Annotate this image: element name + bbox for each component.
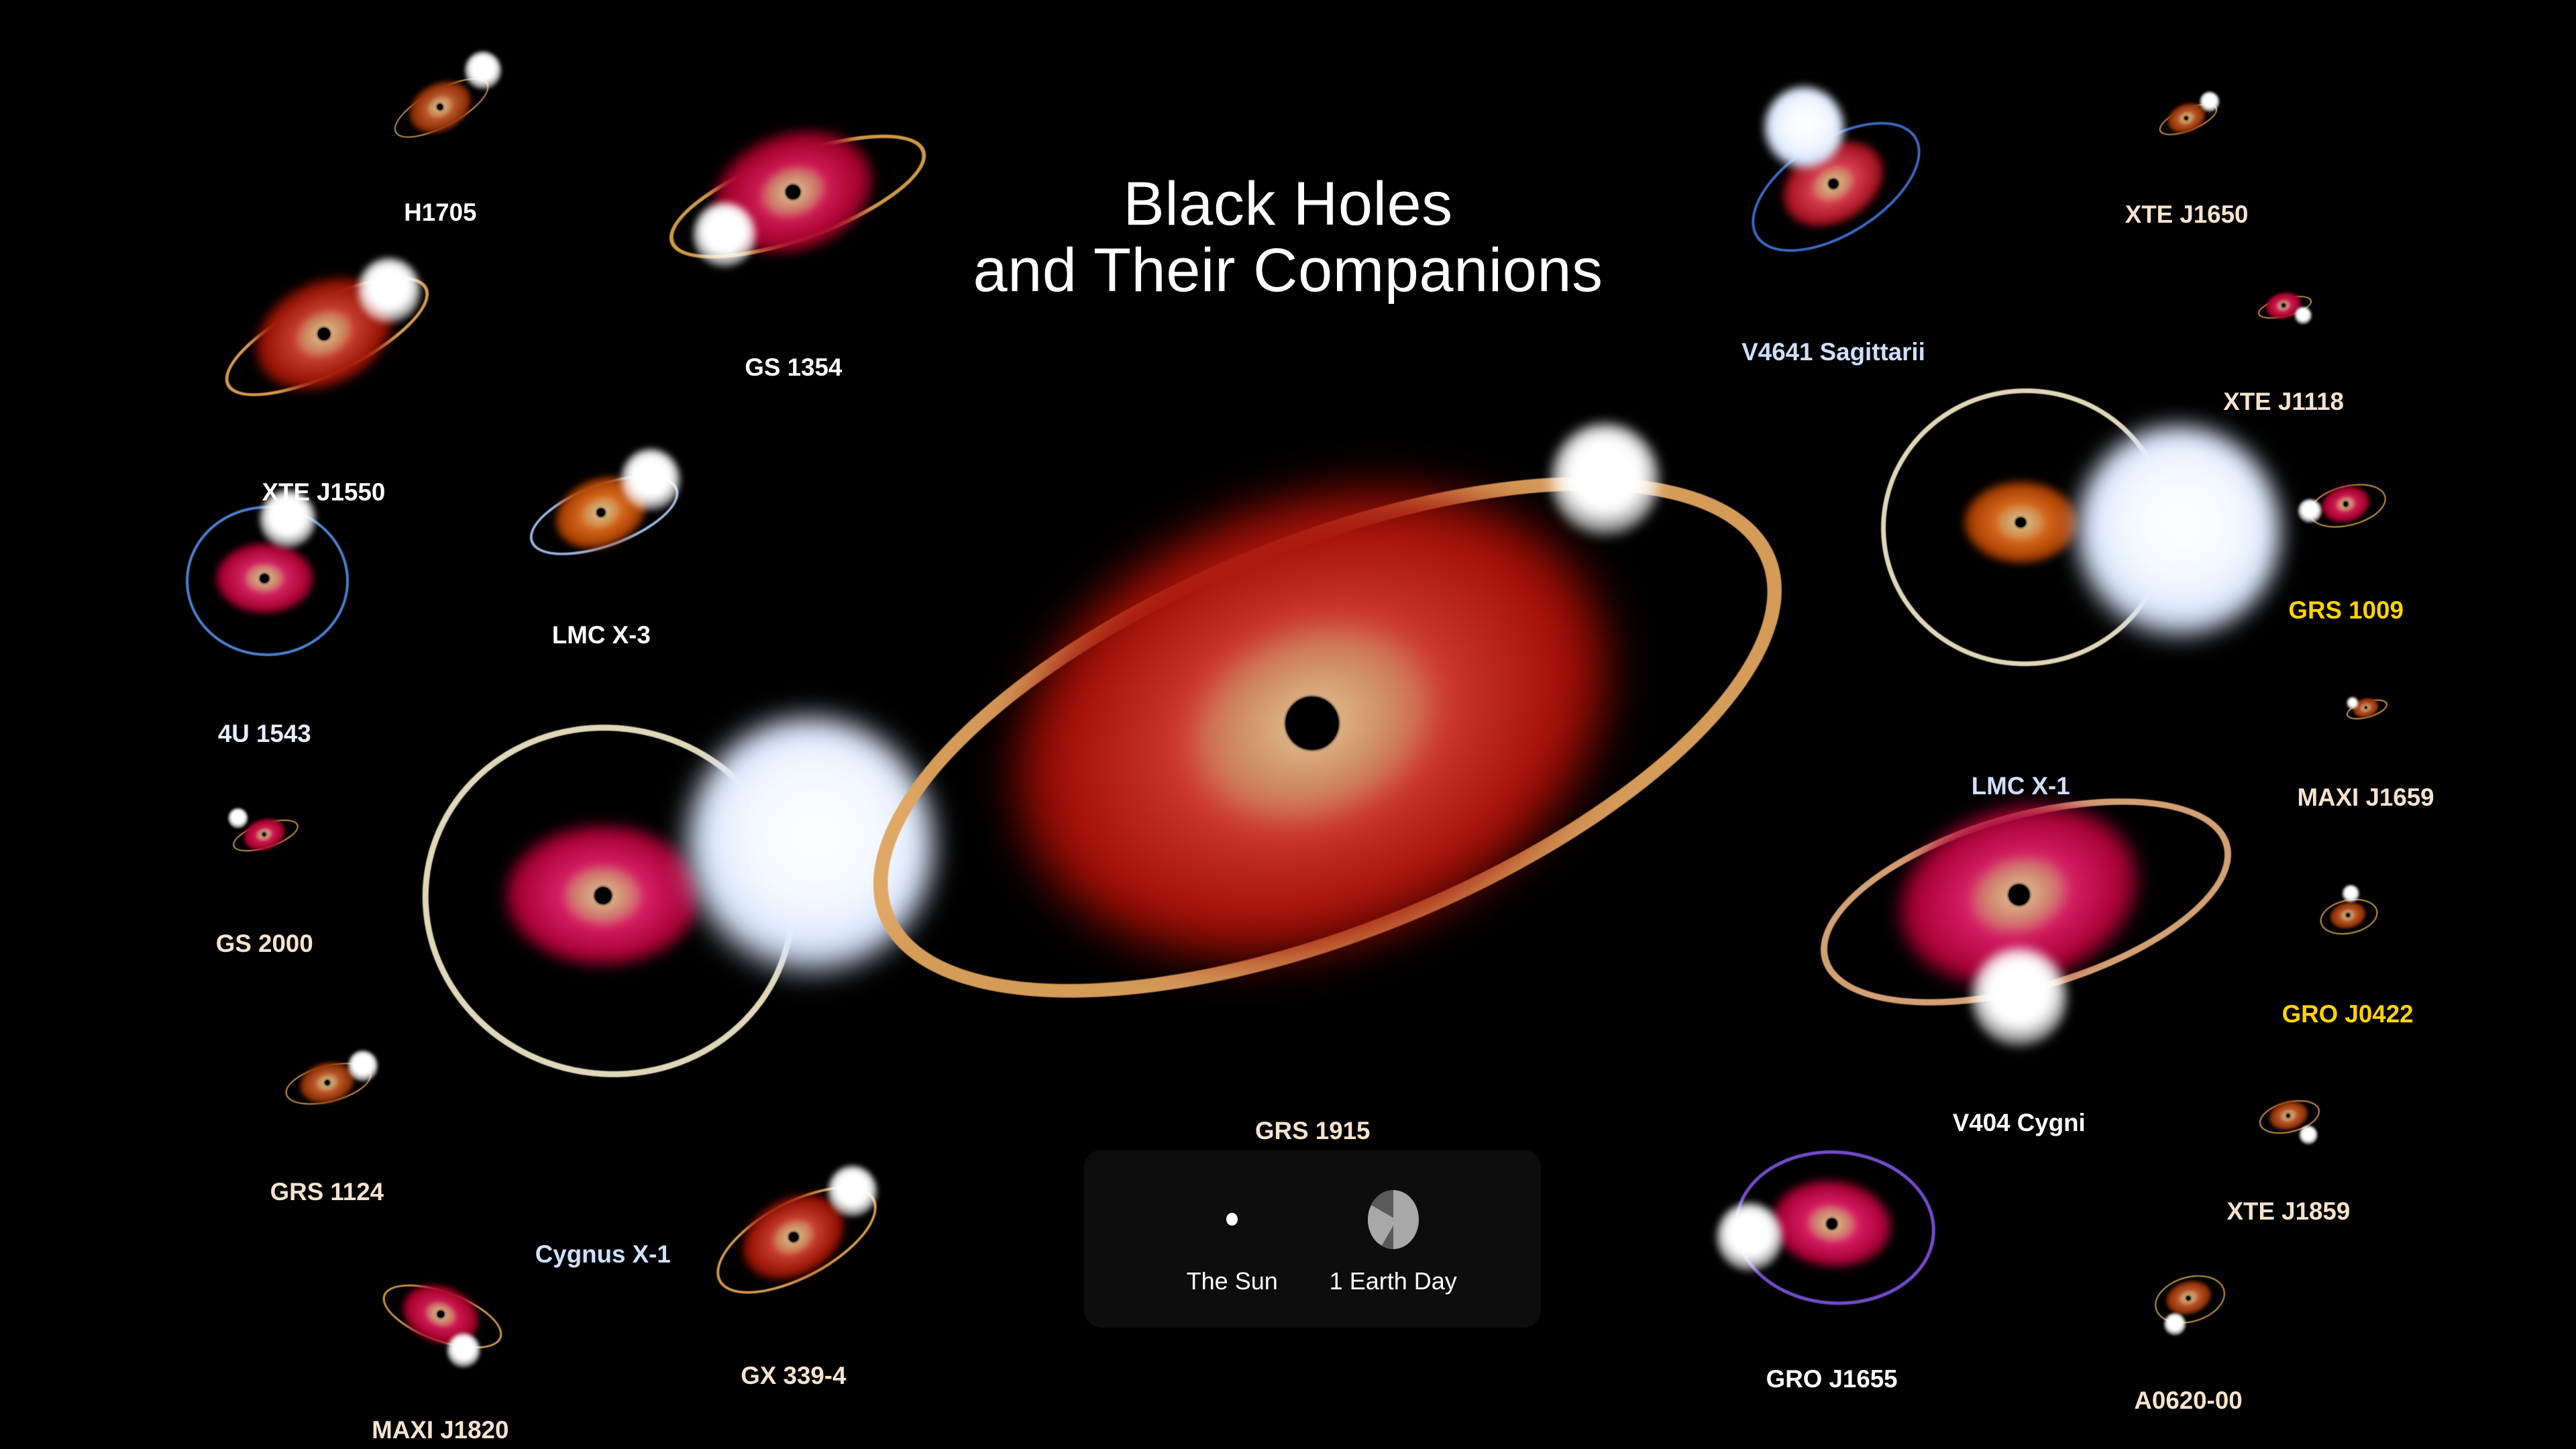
companion-star <box>2200 92 2219 113</box>
legend-label-sun: The Sun <box>1187 1267 1278 1295</box>
system-label-v404-cygni: V404 Cygni <box>1953 1109 2086 1137</box>
sky-canvas: Black Holes and Their Companions H1705GS… <box>0 0 2576 1449</box>
system-label-xte-j1859: XTE J1859 <box>2227 1197 2351 1226</box>
system-label-a0620-00: A0620-00 <box>2134 1387 2242 1415</box>
system-label-v4641-sgr: V4641 Sagittarii <box>1741 338 1925 366</box>
black-hole <box>2346 913 2349 916</box>
system-label-maxi-j1820: MAXI J1820 <box>372 1416 508 1444</box>
accretion-disk <box>504 824 702 967</box>
companion-star <box>1717 1203 1782 1271</box>
black-hole <box>2016 517 2026 527</box>
sun-dot-icon <box>1226 1183 1238 1256</box>
companion-star <box>1972 948 2067 1047</box>
system-label-xte-j1650: XTE J1650 <box>2125 201 2249 229</box>
system-label-maxi-j1659: MAXI J1659 <box>2297 784 2434 812</box>
companion-star <box>1764 87 1843 169</box>
legend-label-earth-day: 1 Earth Day <box>1330 1267 1457 1295</box>
system-label-gx339-4: GX 339-4 <box>741 1362 846 1390</box>
system-label-gro-j0422: GRO J0422 <box>2282 1000 2414 1028</box>
system-label-gro-j1655: GRO J1655 <box>1766 1365 1898 1393</box>
legend-item-sun: The Sun <box>1152 1183 1313 1295</box>
system-label-gs1354: GS 1354 <box>745 354 842 382</box>
companion-star <box>260 490 315 549</box>
companion-star <box>2298 499 2321 523</box>
scale-legend: The Sun 1 Earth Day <box>1084 1150 1541 1327</box>
system-label-grs1124: GRS 1124 <box>270 1178 384 1206</box>
companion-star <box>2295 307 2311 323</box>
system-label-lmc-x-3: LMC X-3 <box>552 621 651 649</box>
system-label-grs1915: GRS 1915 <box>1255 1117 1370 1145</box>
system-label-grs1009: GRS 1009 <box>2288 596 2403 625</box>
system-label-h1705: H1705 <box>404 199 476 227</box>
system-label-4u-1543: 4U 1543 <box>218 720 311 748</box>
system-label-xte-j1118: XTE J1118 <box>2223 388 2344 416</box>
companion-star <box>348 1051 378 1081</box>
companion-star <box>2165 1313 2186 1335</box>
companion-star <box>228 808 248 828</box>
companion-star <box>465 52 501 89</box>
companion-star <box>2299 1126 2317 1144</box>
companion-star <box>2076 427 2280 639</box>
earth-day-pie-icon <box>1368 1183 1419 1256</box>
system-label-gs2000: GS 2000 <box>216 930 313 958</box>
system-label-cygnus-x-1: Cygnus X-1 <box>535 1240 671 1269</box>
companion-star <box>358 258 421 323</box>
black-hole <box>594 887 611 904</box>
companion-star <box>693 203 755 268</box>
companion-star <box>621 449 680 511</box>
accretion-disk <box>215 543 314 614</box>
companion-star <box>1551 423 1660 536</box>
system-label-lmc-x-1: LMC X-1 <box>1972 772 2070 800</box>
legend-item-earth-day: 1 Earth Day <box>1313 1183 1474 1295</box>
companion-star <box>2347 697 2358 709</box>
accretion-disk <box>1964 481 2078 563</box>
companion-star <box>447 1334 480 1368</box>
